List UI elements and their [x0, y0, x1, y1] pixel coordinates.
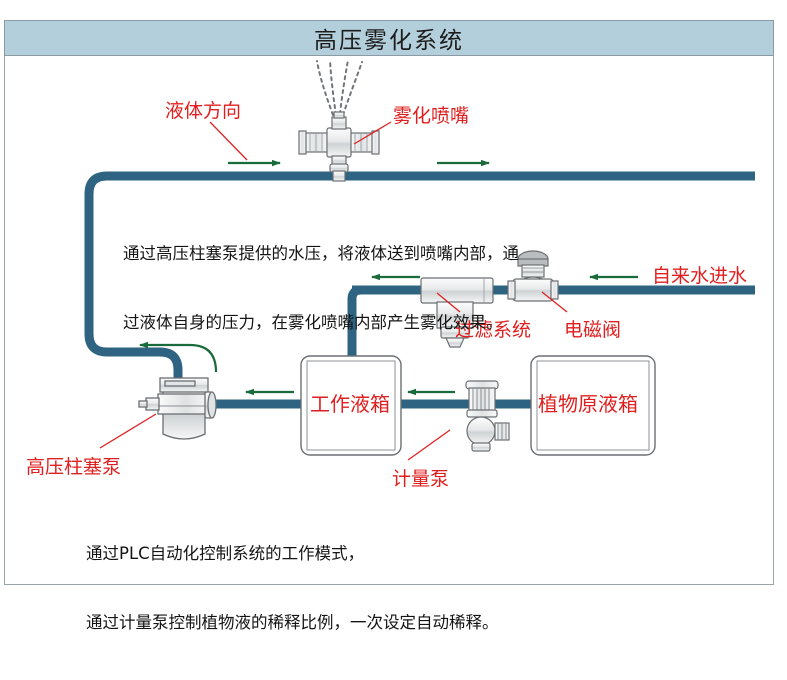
label-high-pressure-plunger-pump: 高压柱塞泵: [26, 452, 121, 479]
description-bottom-line1: 通过PLC自动化控制系统的工作模式，: [86, 542, 499, 565]
description-top: 通过高压柱塞泵提供的水压，将液体送到喷嘴内部，通 过液体自身的压力，在雾化喷嘴内…: [123, 196, 519, 380]
metering-pump-icon: [466, 381, 509, 451]
label-tap-water-inlet: 自来水进水: [652, 261, 747, 288]
label-plant-stock-tank: 植物原液箱: [538, 388, 638, 417]
description-top-line2: 过液体自身的压力，在雾化喷嘴内部产生雾化效果。: [123, 311, 519, 334]
leader-metering-pump: [408, 430, 450, 460]
spray-nozzle-icon: [299, 112, 379, 181]
description-bottom-line2: 通过计量泵控制植物液的稀释比例，一次设定自动稀释。: [86, 611, 499, 634]
label-metering-pump: 计量泵: [392, 464, 449, 491]
diagram-root: 高压雾化系统: [0, 0, 787, 590]
label-working-tank: 工作液箱: [310, 388, 390, 417]
leader-plunger-pump: [100, 414, 156, 448]
leader-liquid-direction: [210, 122, 247, 160]
label-solenoid-valve: 电磁阀: [564, 315, 621, 342]
label-atomizing-nozzle: 雾化喷嘴: [393, 101, 469, 128]
description-top-line1: 通过高压柱塞泵提供的水压，将液体送到喷嘴内部，通: [123, 242, 519, 265]
spray-mist-icon: [317, 60, 362, 115]
plunger-pump-icon: [139, 378, 216, 439]
description-bottom: 通过PLC自动化控制系统的工作模式， 通过计量泵控制植物液的稀释比例，一次设定自…: [86, 496, 499, 680]
label-liquid-direction: 液体方向: [165, 96, 241, 123]
